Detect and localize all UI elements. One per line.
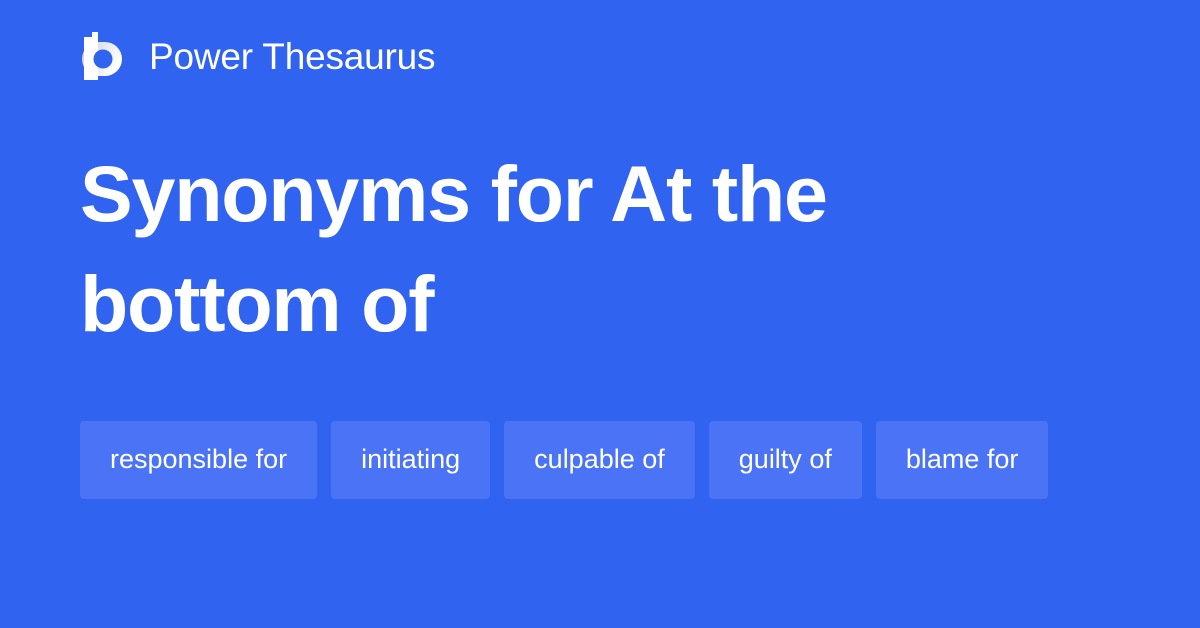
brand-name: Power Thesaurus	[149, 38, 435, 75]
power-thesaurus-b-logo-icon	[80, 32, 124, 80]
page-title: Synonyms for At the bottom of	[80, 139, 1080, 359]
synonym-chip[interactable]: initiating	[331, 421, 490, 499]
synonym-chip[interactable]: guilty of	[709, 421, 862, 499]
synonym-chip-list: responsible for initiating culpable of g…	[80, 421, 1140, 499]
synonyms-share-card: Power Thesaurus Synonyms for At the bott…	[0, 0, 1200, 628]
brand-header[interactable]: Power Thesaurus	[80, 28, 435, 84]
synonym-chip[interactable]: responsible for	[80, 421, 317, 499]
synonym-chip[interactable]: culpable of	[504, 421, 695, 499]
synonym-chip[interactable]: blame for	[876, 421, 1049, 499]
